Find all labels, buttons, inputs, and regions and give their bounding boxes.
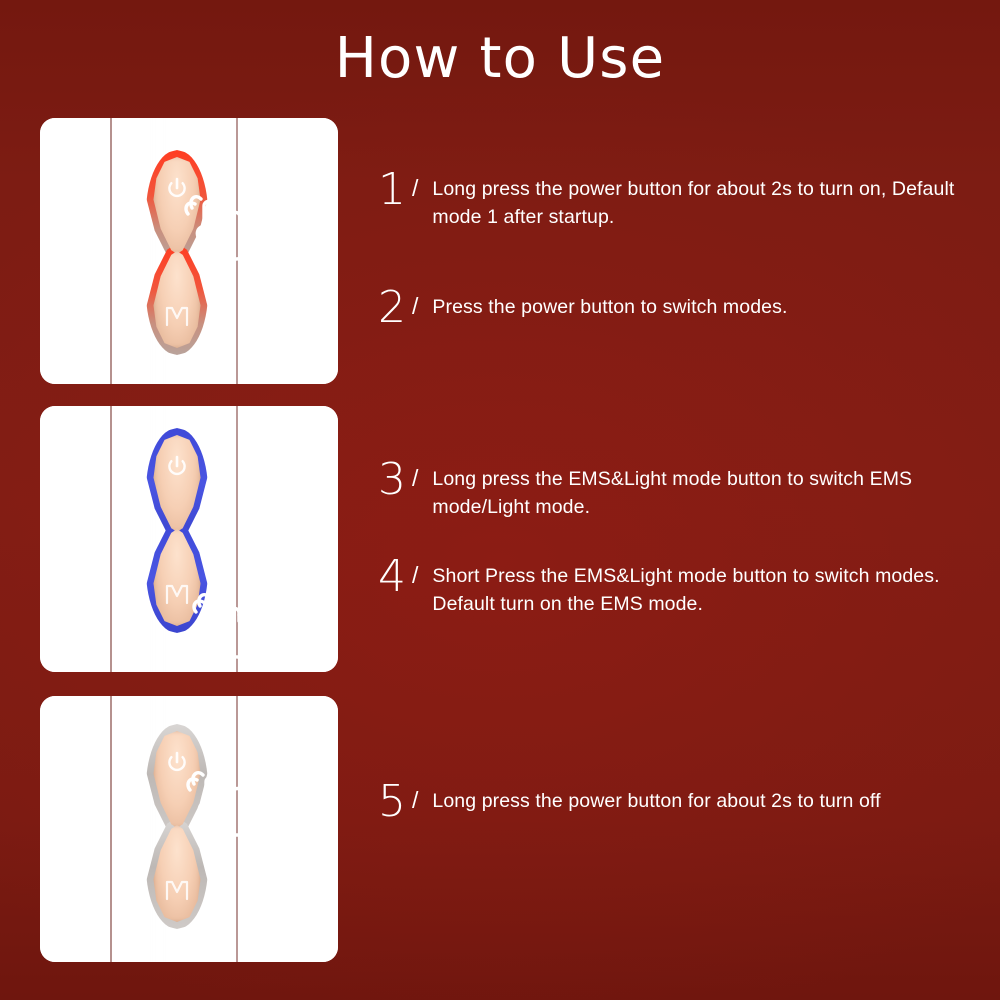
button-panel-2	[146, 428, 208, 633]
step-number: 1	[378, 170, 408, 210]
mode-m-icon	[164, 879, 190, 901]
device-photo-3	[40, 696, 338, 962]
step-number: 5	[378, 782, 408, 822]
product-image-card-2	[40, 406, 338, 672]
step-number: 3	[378, 460, 408, 500]
power-icon	[166, 176, 188, 200]
step-text: Press the power button to switch modes.	[432, 288, 787, 321]
step-item-3: 3 / Long press the EMS&Light mode button…	[378, 460, 978, 522]
handle-seam	[102, 406, 104, 672]
mode-m-icon	[164, 305, 190, 327]
step-text: Short Press the EMS&Light mode button to…	[432, 557, 978, 619]
step-number: 2	[378, 288, 408, 328]
step-separator: /	[408, 170, 432, 201]
button-panel-3	[146, 724, 208, 929]
page-title: How to Use	[0, 28, 1000, 90]
handle-seam	[244, 696, 246, 962]
handle-seam	[110, 406, 112, 672]
handle-seam	[236, 118, 238, 384]
power-icon	[166, 750, 188, 774]
step-number: 4	[378, 557, 408, 597]
handle-seam	[102, 118, 104, 384]
step-separator: /	[408, 557, 432, 588]
mode-m-icon	[164, 583, 190, 605]
handle-seam	[244, 406, 246, 672]
step-text: Long press the power button for about 2s…	[432, 170, 978, 232]
step-separator: /	[408, 288, 432, 319]
step-separator: /	[408, 460, 432, 491]
step-item-5: 5 / Long press the power button for abou…	[378, 782, 978, 822]
handle-seam	[236, 406, 238, 672]
product-image-card-3	[40, 696, 338, 962]
device-photo-1	[40, 118, 338, 384]
handle-seam	[110, 696, 112, 962]
step-text: Long press the power button for about 2s…	[432, 782, 880, 815]
handle-seam	[102, 696, 104, 962]
step-separator: /	[408, 782, 432, 813]
handle-seam	[110, 118, 112, 384]
handle-seam	[236, 696, 238, 962]
step-text: Long press the EMS&Light mode button to …	[432, 460, 978, 522]
handle-seam	[244, 118, 246, 384]
power-icon	[166, 454, 188, 478]
device-photo-2	[40, 406, 338, 672]
product-image-card-1	[40, 118, 338, 384]
how-to-use-page: How to Use	[0, 0, 1000, 1000]
step-item-4: 4 / Short Press the EMS&Light mode butto…	[378, 557, 978, 619]
step-item-2: 2 / Press the power button to switch mod…	[378, 288, 978, 328]
button-panel-1	[146, 150, 208, 355]
step-item-1: 1 / Long press the power button for abou…	[378, 170, 978, 232]
